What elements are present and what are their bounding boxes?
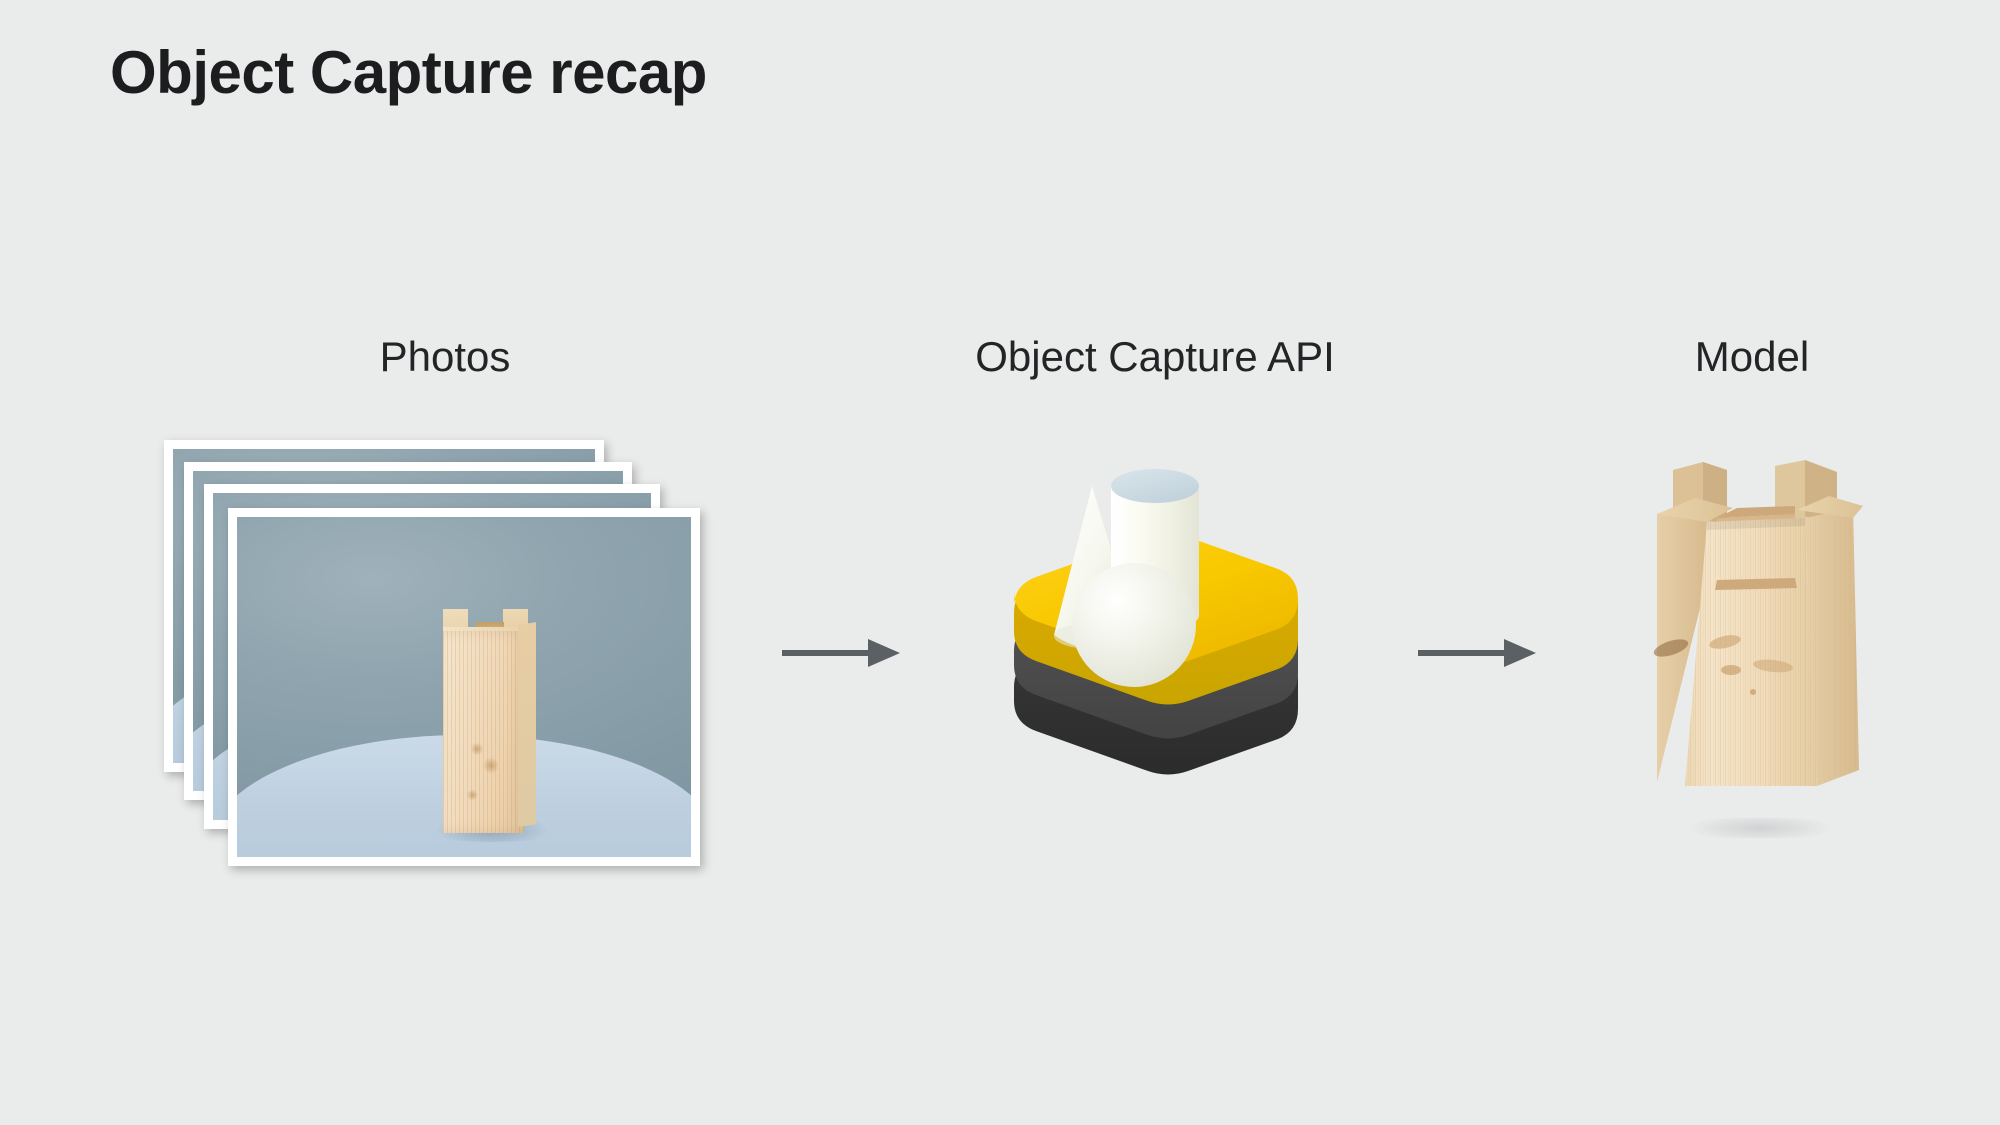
photo-image: [237, 517, 691, 857]
object-capture-api-icon: [1010, 455, 1300, 815]
photo-stack: [160, 438, 720, 848]
model-contact-shadow: [1659, 818, 1861, 838]
stage-label-object-capture-api: Object Capture API: [975, 333, 1335, 381]
reconstructed-3d-model: [1645, 430, 1875, 830]
photo-card-front: [228, 508, 700, 866]
stage-label-model: Model: [1695, 333, 1809, 381]
wood-knot: [467, 789, 478, 801]
wood-knot: [471, 742, 483, 756]
stage-label-photos: Photos: [380, 333, 511, 381]
block-front-face: [443, 631, 524, 833]
wood-knot: [484, 756, 499, 774]
wooden-block-subject: [437, 609, 541, 833]
block-side-face: [518, 622, 536, 827]
arrow-right-icon: [782, 633, 902, 673]
arrow-right-icon: [1418, 633, 1538, 673]
object-capture-flow-diagram: Photos Object Capture API Model: [0, 0, 2000, 1125]
